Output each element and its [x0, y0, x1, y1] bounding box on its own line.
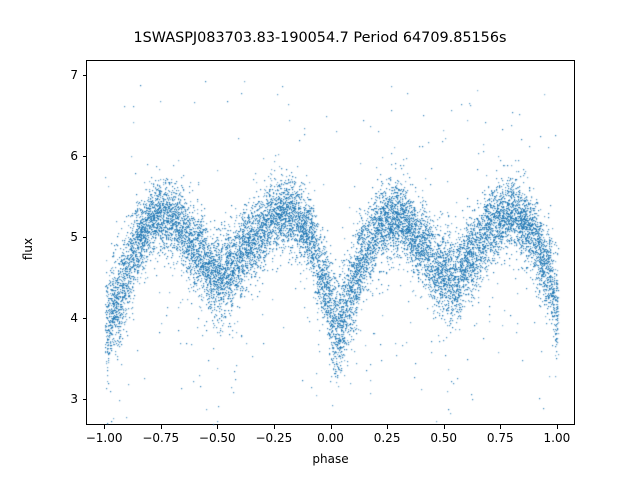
x-tick-mark: [104, 425, 105, 429]
y-tick-label: 7: [38, 69, 78, 81]
x-tick-mark: [444, 425, 445, 429]
y-tick-label: 4: [38, 312, 78, 324]
y-tick-mark: [83, 399, 87, 400]
x-axis-label: phase: [86, 452, 575, 466]
x-tick-mark: [331, 425, 332, 429]
x-tick-mark: [217, 425, 218, 429]
y-tick-mark: [83, 156, 87, 157]
scatter-plot-points: [87, 61, 576, 426]
y-tick-mark: [83, 75, 87, 76]
y-tick-mark: [83, 237, 87, 238]
y-tick-label: 3: [38, 393, 78, 405]
y-tick-label: 5: [38, 231, 78, 243]
y-tick-label: 6: [38, 150, 78, 162]
plot-axes: [86, 60, 575, 425]
y-axis-label: flux: [21, 219, 35, 279]
matplotlib-figure: 1SWASPJ083703.83-190054.7 Period 64709.8…: [0, 0, 640, 480]
x-tick-mark: [557, 425, 558, 429]
x-tick-mark: [161, 425, 162, 429]
y-tick-mark: [83, 318, 87, 319]
x-tick-label: 1.00: [517, 432, 597, 444]
x-tick-mark: [274, 425, 275, 429]
page-title: 1SWASPJ083703.83-190054.7 Period 64709.8…: [0, 30, 640, 46]
x-tick-mark: [387, 425, 388, 429]
x-tick-mark: [500, 425, 501, 429]
